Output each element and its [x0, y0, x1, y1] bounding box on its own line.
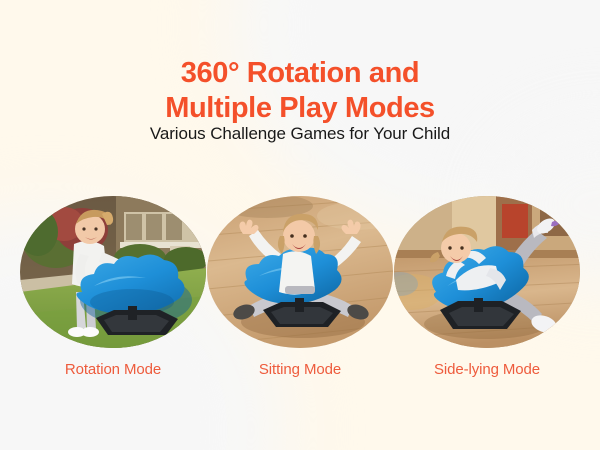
subheadline: Various Challenge Games for Your Child: [0, 124, 600, 144]
headline: 360° Rotation and Multiple Play Modes: [0, 56, 600, 126]
child-side-lying-in-spinner-photo: [394, 196, 580, 348]
headline-line-1: 360° Rotation and: [0, 56, 600, 91]
play-mode-card-sitting[interactable]: Sitting Mode: [207, 196, 393, 378]
banner-stage: 360° Rotation and Multiple Play Modes Va…: [0, 0, 600, 450]
play-mode-card-list: Rotation Mode: [20, 196, 580, 378]
headline-line-2: Multiple Play Modes: [0, 91, 600, 126]
child-sitting-in-spinner-photo: [207, 196, 393, 348]
play-mode-card-side-lying[interactable]: Side-lying Mode: [394, 196, 580, 378]
play-mode-card-rotation[interactable]: Rotation Mode: [20, 196, 206, 378]
child-spinning-toy-on-lawn-photo: [20, 196, 206, 348]
play-mode-label-sitting: Sitting Mode: [207, 361, 393, 378]
play-mode-label-side-lying: Side-lying Mode: [394, 361, 580, 378]
play-mode-label-rotation: Rotation Mode: [20, 361, 206, 378]
